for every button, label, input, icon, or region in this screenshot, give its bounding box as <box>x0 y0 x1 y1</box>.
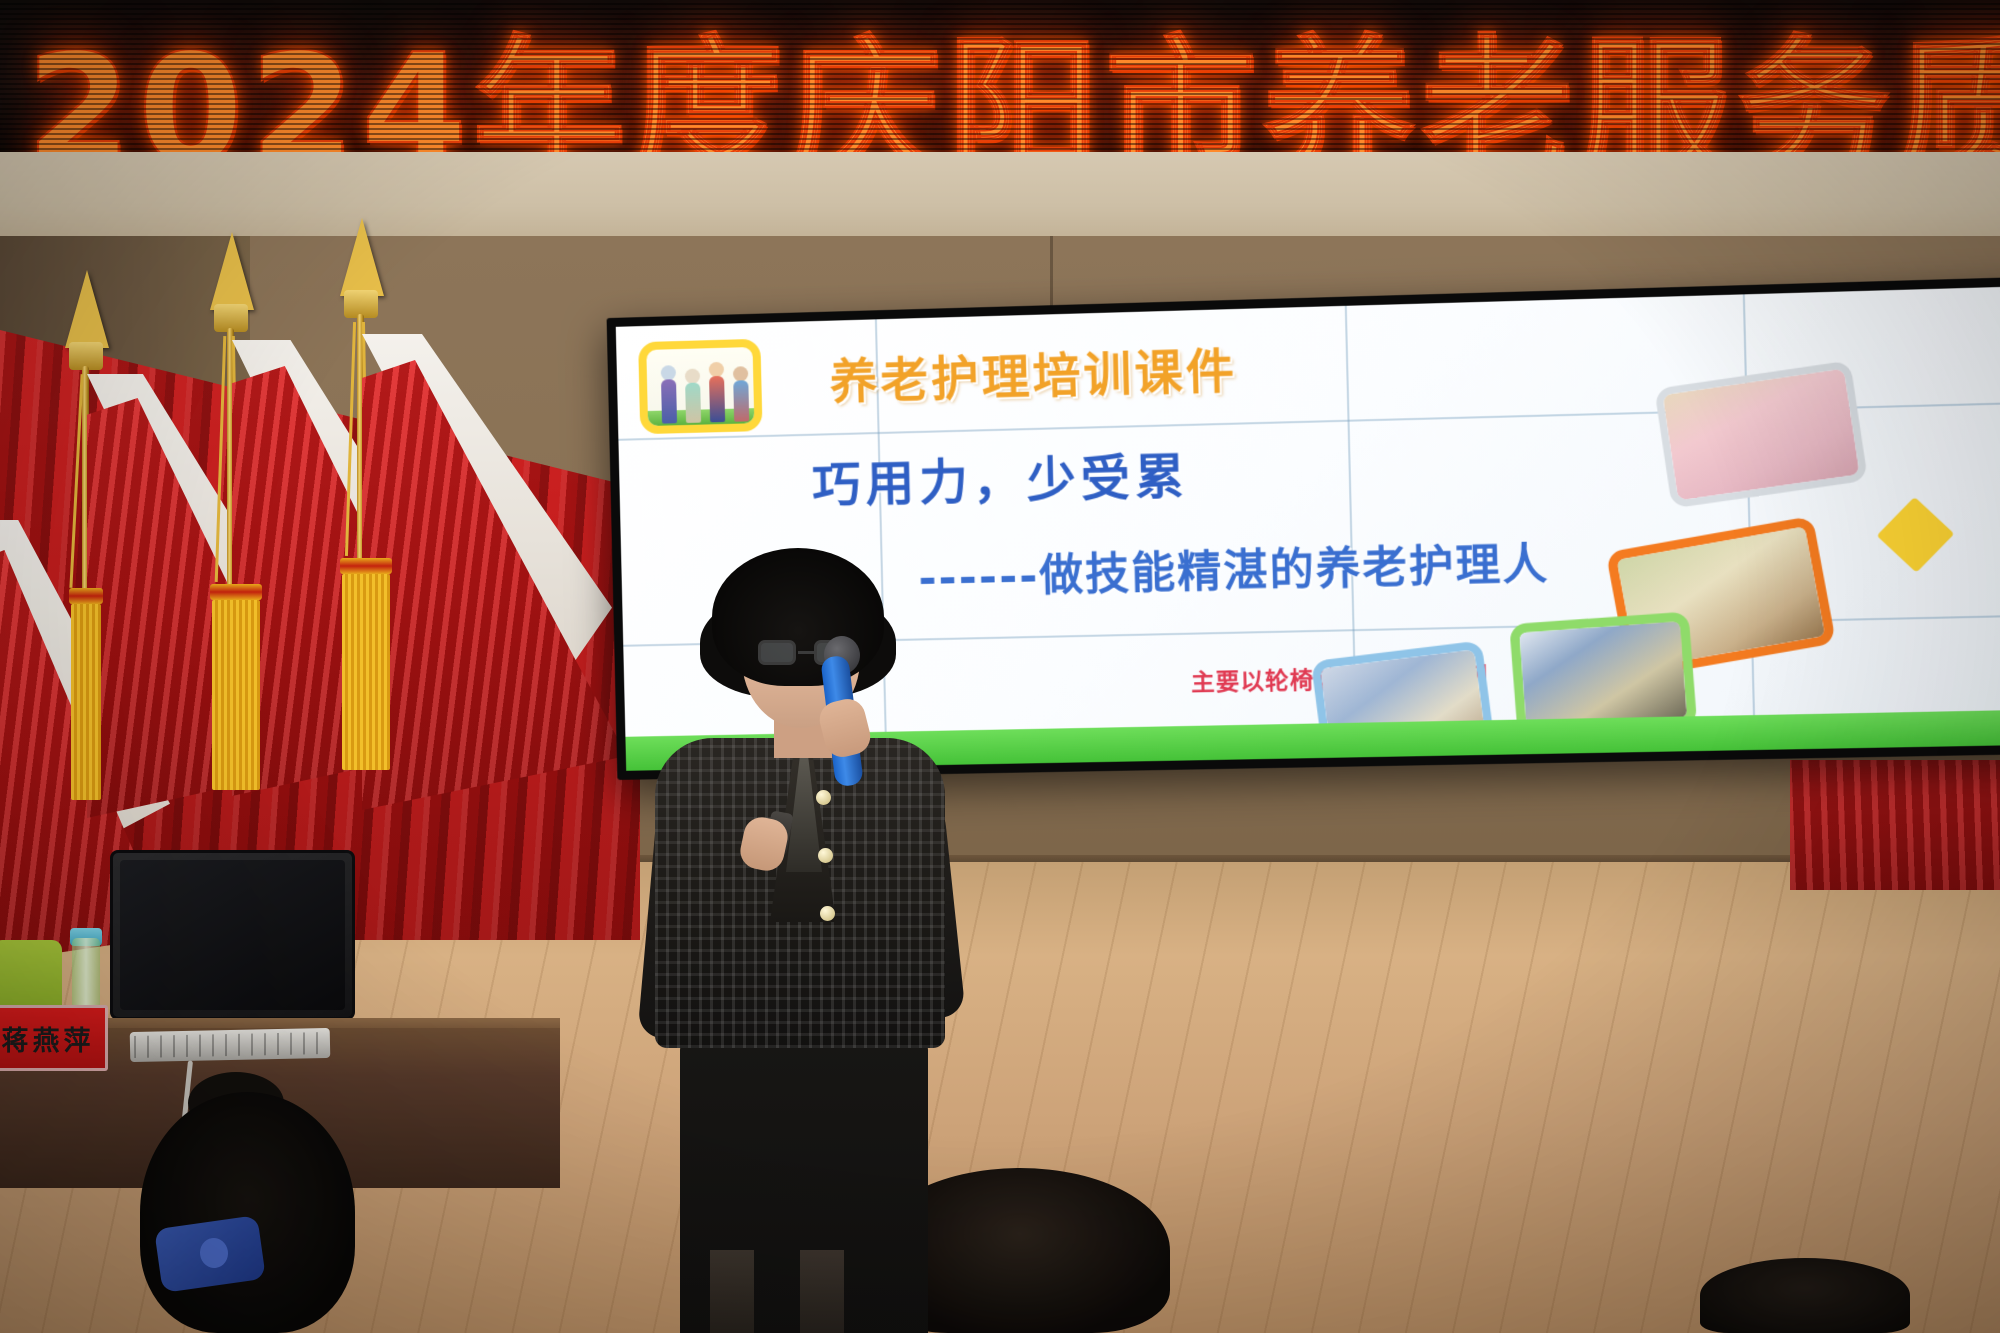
jacket-button <box>816 790 831 805</box>
eyeglasses-icon <box>758 640 796 665</box>
flag-finial-icon <box>65 270 109 348</box>
head <box>140 1092 355 1333</box>
flag-finial-icon <box>340 218 384 296</box>
audience-member-front-right <box>1700 1258 1910 1333</box>
presenter-hair <box>712 548 884 686</box>
presenter-leg <box>710 1250 754 1333</box>
name-placard: 蒋燕萍 <box>0 1005 108 1071</box>
eyeglasses-bridge <box>798 651 814 654</box>
yellow-diamond <box>1877 497 1955 573</box>
jacket-button <box>818 848 833 863</box>
conference-photo-scene: 养老护理培训课件 巧用力，少受累 ------做技能精湛的养老护理人 主要以轮椅… <box>0 0 2000 1333</box>
wall-upper <box>0 140 2000 250</box>
led-banner: 2024年度庆阳市养老服务质 <box>0 0 2000 152</box>
desktop-monitor <box>110 850 355 1020</box>
slide-heading: 巧用力，少受累 <box>811 436 1190 516</box>
photo-nurses-group <box>1654 360 1868 508</box>
red-curtain-right <box>1790 760 2000 890</box>
slide-subheading: ------做技能精湛的养老护理人 <box>918 529 1550 606</box>
elderly-people-icon <box>638 339 762 434</box>
slide-title: 养老护理培训课件 <box>829 331 1238 412</box>
name-placard-text: 蒋燕萍 <box>2 1019 95 1058</box>
led-banner-text: 2024年度庆阳市养老服务质 <box>26 0 2000 152</box>
jacket-button <box>820 906 835 921</box>
keyboard <box>130 1028 331 1062</box>
presenter-leg <box>800 1250 844 1333</box>
flag-finial-icon <box>210 232 254 310</box>
